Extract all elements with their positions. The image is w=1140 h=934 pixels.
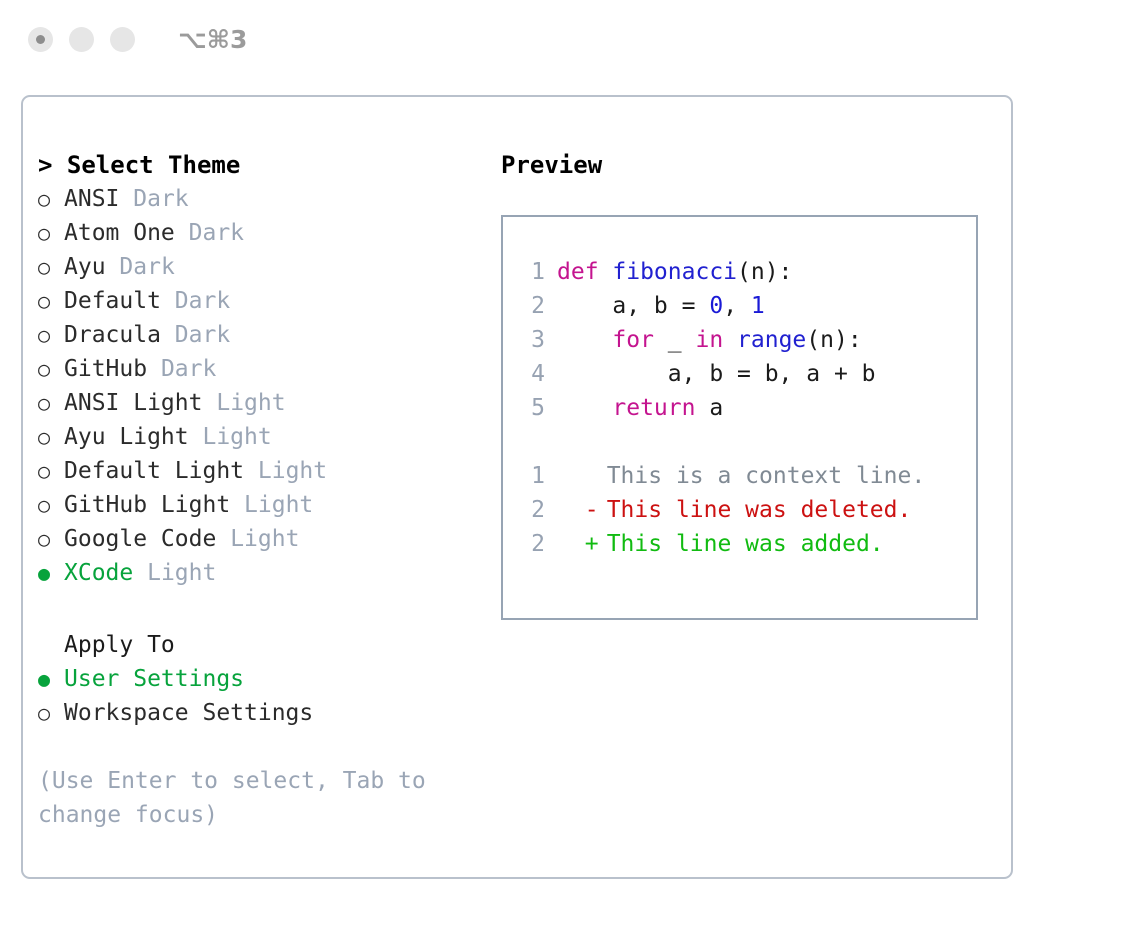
theme-option[interactable]: ○GitHub Dark	[38, 352, 498, 386]
window-dot-active-indicator	[36, 35, 45, 44]
code-token: 0	[709, 293, 723, 319]
diff-text: This line was added.	[607, 531, 884, 557]
radio-unselected-icon: ○	[38, 284, 64, 318]
code-diff-spacer	[517, 425, 976, 459]
theme-option-label: GitHub	[64, 356, 147, 382]
theme-option-tag: Light	[230, 526, 299, 552]
theme-option[interactable]: ○ANSI Dark	[38, 182, 498, 216]
diff-gutter-space	[557, 463, 585, 489]
code-token: for	[612, 327, 654, 353]
line-number: 4	[517, 357, 545, 391]
radio-unselected-icon: ○	[38, 182, 64, 216]
apply-to-option-label: Workspace Settings	[64, 700, 313, 726]
label-space	[202, 390, 216, 416]
code-token	[723, 327, 737, 353]
code-line: 2 a, b = 0, 1	[517, 289, 976, 323]
label-space	[230, 492, 244, 518]
radio-selected-icon: ●	[38, 556, 64, 590]
label-space	[244, 458, 258, 484]
code-line: 5 return a	[517, 391, 976, 425]
code-line: 4 a, b = b, a + b	[517, 357, 976, 391]
radio-unselected-icon: ○	[38, 216, 64, 250]
radio-unselected-icon: ○	[38, 420, 64, 454]
code-token: return	[612, 395, 695, 421]
apply-to-option-label: User Settings	[64, 666, 244, 692]
theme-option-tag: Dark	[189, 220, 244, 246]
label-space	[189, 424, 203, 450]
radio-selected-icon: ●	[38, 662, 64, 696]
diff-sign: -	[585, 493, 607, 527]
code-token	[557, 327, 612, 353]
label-space	[147, 356, 161, 382]
label-space	[175, 220, 189, 246]
label-space	[119, 186, 133, 212]
theme-option-tag: Light	[216, 390, 285, 416]
code-token	[557, 395, 612, 421]
theme-option-label: Default Light	[64, 458, 244, 484]
main-panel: > Select Theme ○ANSI Dark○Atom One Dark○…	[21, 95, 1013, 879]
theme-option-label: Ayu	[64, 254, 106, 280]
apply-to-option[interactable]: ○Workspace Settings	[38, 696, 498, 730]
apply-to-option[interactable]: ●User Settings	[38, 662, 498, 696]
code-token: (n):	[806, 327, 861, 353]
code-token: a, b = b, a + b	[557, 361, 876, 387]
code-token: fibonacci	[612, 259, 737, 285]
preview-heading: Preview	[501, 148, 1001, 182]
line-number: 2	[517, 493, 545, 527]
radio-unselected-icon: ○	[38, 488, 64, 522]
code-token: a	[695, 395, 723, 421]
code-token: range	[737, 327, 806, 353]
theme-option-label: GitHub Light	[64, 492, 230, 518]
code-token: 1	[751, 293, 765, 319]
theme-option[interactable]: ○Ayu Dark	[38, 250, 498, 284]
code-sample: 1def fibonacci(n):2 a, b = 0, 13 for _ i…	[517, 255, 976, 425]
theme-option-label: Atom One	[64, 220, 175, 246]
code-token: _	[654, 327, 696, 353]
theme-option[interactable]: ○Dracula Dark	[38, 318, 498, 352]
theme-option[interactable]: ○Atom One Dark	[38, 216, 498, 250]
preview-box: 1def fibonacci(n):2 a, b = 0, 13 for _ i…	[501, 215, 978, 620]
code-token: ,	[723, 293, 751, 319]
theme-option[interactable]: ○GitHub Light Light	[38, 488, 498, 522]
theme-option-label: ANSI Light	[64, 390, 202, 416]
code-line: 1def fibonacci(n):	[517, 255, 976, 289]
diff-text: This line was deleted.	[607, 497, 912, 523]
theme-option-tag: Light	[244, 492, 313, 518]
diff-gutter-space	[557, 497, 585, 523]
line-number: 1	[517, 255, 545, 289]
code-token: a, b =	[557, 293, 709, 319]
keyboard-hint: (Use Enter to select, Tab to change focu…	[38, 764, 458, 832]
apply-to-list: ●User Settings○Workspace Settings	[38, 662, 498, 730]
theme-option[interactable]: ○ANSI Light Light	[38, 386, 498, 420]
theme-option[interactable]: ○Default Light Light	[38, 454, 498, 488]
theme-option[interactable]: ●XCode Light	[38, 556, 498, 590]
theme-option-label: Google Code	[64, 526, 216, 552]
theme-selector-column: > Select Theme ○ANSI Dark○Atom One Dark○…	[38, 148, 498, 832]
line-number: 2	[517, 527, 545, 561]
code-token: (n):	[737, 259, 792, 285]
line-number: 1	[517, 459, 545, 493]
theme-option-label: Dracula	[64, 322, 161, 348]
select-theme-heading: > Select Theme	[38, 148, 498, 182]
panel-columns: > Select Theme ○ANSI Dark○Atom One Dark○…	[23, 97, 1011, 877]
diff-text: This is a context line.	[607, 463, 926, 489]
window-dot-1[interactable]	[28, 27, 53, 52]
label-space	[133, 560, 147, 586]
diff-sign: +	[585, 527, 607, 561]
theme-option-tag: Dark	[175, 322, 230, 348]
theme-option-tag: Light	[202, 424, 271, 450]
title-bar: ⌥⌘3	[0, 0, 1140, 78]
theme-option-label: Default	[64, 288, 161, 314]
diff-line: 1 This is a context line.	[517, 459, 976, 493]
radio-unselected-icon: ○	[38, 522, 64, 556]
app-window: ⌥⌘3 > Select Theme ○ANSI Dark○Atom One D…	[0, 0, 1140, 934]
theme-option-tag: Dark	[133, 186, 188, 212]
window-dot-3[interactable]	[110, 27, 135, 52]
diff-line: 2 +This line was added.	[517, 527, 976, 561]
code-token: def	[557, 259, 612, 285]
diff-sample: 1 This is a context line.2 -This line wa…	[517, 459, 976, 561]
apply-to-heading: Apply To	[38, 628, 498, 662]
radio-unselected-icon: ○	[38, 352, 64, 386]
theme-option-label: XCode	[64, 560, 133, 586]
radio-unselected-icon: ○	[38, 250, 64, 284]
code-token: in	[695, 327, 723, 353]
line-number: 5	[517, 391, 545, 425]
line-number: 3	[517, 323, 545, 357]
code-line: 3 for _ in range(n):	[517, 323, 976, 357]
diff-gutter-space	[557, 531, 585, 557]
section-spacer	[38, 590, 498, 628]
theme-option[interactable]: ○Google Code Light	[38, 522, 498, 556]
label-space	[161, 322, 175, 348]
diff-line: 2 -This line was deleted.	[517, 493, 976, 527]
theme-option-label: Ayu Light	[64, 424, 189, 450]
label-space	[216, 526, 230, 552]
diff-sign	[585, 459, 607, 493]
theme-option[interactable]: ○Ayu Light Light	[38, 420, 498, 454]
window-dot-2[interactable]	[69, 27, 94, 52]
theme-option-tag: Dark	[161, 356, 216, 382]
theme-option-tag: Light	[147, 560, 216, 586]
label-space	[106, 254, 120, 280]
radio-unselected-icon: ○	[38, 696, 64, 730]
label-space	[161, 288, 175, 314]
radio-unselected-icon: ○	[38, 386, 64, 420]
theme-option[interactable]: ○Default Dark	[38, 284, 498, 318]
preview-column: Preview 1def fibonacci(n):2 a, b = 0, 13…	[501, 148, 1001, 620]
theme-option-label: ANSI	[64, 186, 119, 212]
theme-option-tag: Dark	[119, 254, 174, 280]
theme-option-tag: Light	[258, 458, 327, 484]
theme-list: ○ANSI Dark○Atom One Dark○Ayu Dark○Defaul…	[38, 182, 498, 590]
hotkey-label: ⌥⌘3	[178, 25, 247, 54]
theme-option-tag: Dark	[175, 288, 230, 314]
radio-unselected-icon: ○	[38, 318, 64, 352]
radio-unselected-icon: ○	[38, 454, 64, 488]
line-number: 2	[517, 289, 545, 323]
